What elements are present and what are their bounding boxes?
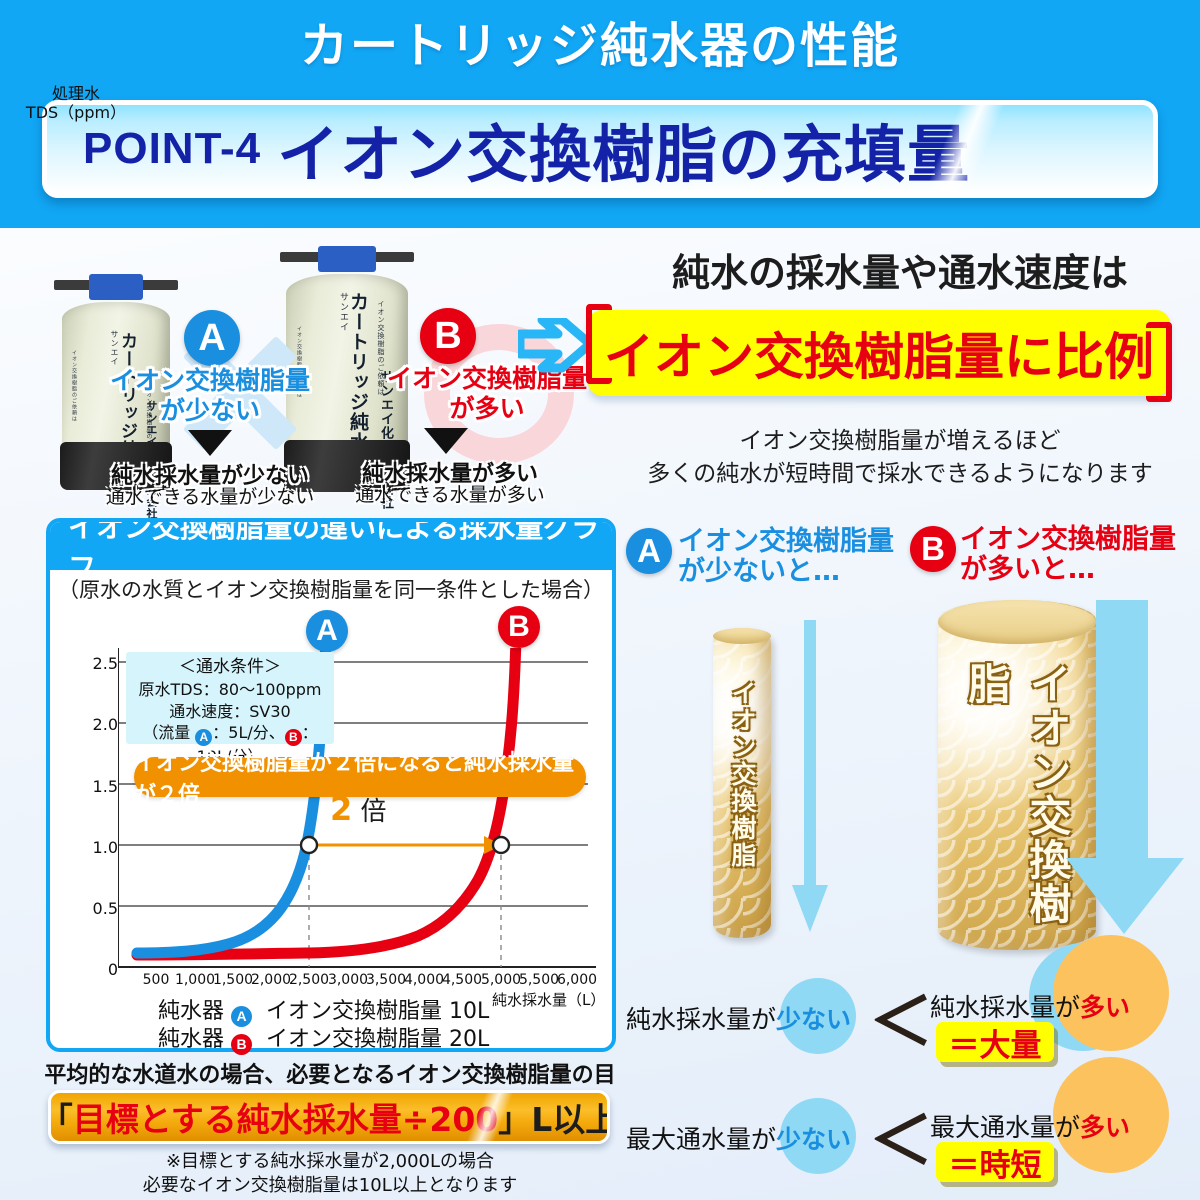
- caption-a-line2: が少ない: [100, 396, 320, 426]
- formula-note: ※目標とする純水採水量が2,000Lの場合 必要なイオン交換樹脂量は10L以上と…: [40, 1150, 620, 1199]
- badge-a: A: [184, 310, 240, 366]
- comparison-title-b-line1: イオン交換樹脂量: [960, 524, 1176, 555]
- comparison-row2-right-pre: 最大通水量が: [930, 1113, 1080, 1142]
- condition-line3-pre: （流量: [142, 723, 195, 742]
- comparison-row2-left-hl: 少ない: [776, 1125, 851, 1154]
- condition-line1: 原水TDS：80〜100ppm: [126, 679, 334, 701]
- resin-cylinder-a-top: [713, 628, 771, 644]
- legend-b-device: 純水器: [158, 1027, 224, 1052]
- comparison-badge-a: A: [626, 528, 672, 574]
- flow-arrow-b-icon: [1060, 600, 1190, 940]
- infographic-root: カートリッジ純水器の性能 POINT-4 イオン交換樹脂の充填量 カートリッジ純…: [0, 0, 1200, 1200]
- condition-title: ＜通水条件＞: [126, 656, 334, 679]
- resin-cylinder-a: イオン交換樹脂: [713, 628, 771, 938]
- chart-subheading: （原水の水質とイオン交換樹脂量を同一条件とした場合）: [50, 574, 612, 604]
- comparison-row1-operator: ＜: [869, 971, 933, 1063]
- result-b-sub: 通水できる水量が多い: [336, 480, 564, 507]
- legend-row-b: 純水器 B イオン交換樹脂量 20L: [158, 1021, 489, 1055]
- marker-b: [493, 837, 509, 853]
- comparison-row2-right-hl: 多い: [1080, 1113, 1130, 1142]
- comparison-title-a-line2: が少ないと…: [678, 556, 840, 587]
- bottle-a-label-brand: サンエイ: [109, 330, 120, 366]
- y-tick-2.5: 2.5: [78, 654, 118, 673]
- condition-line3-mid: ：5L/分、: [212, 723, 285, 742]
- right-arrow-icon: [518, 318, 594, 388]
- formula-note-line2: 必要なイオン交換樹脂量は10L以上となります: [143, 1175, 517, 1196]
- comparison-badge-b: B: [910, 526, 956, 572]
- multiplier-unit: 倍: [361, 797, 387, 827]
- formula-bar-shine: [429, 1090, 540, 1144]
- bottle-b-valve: [318, 246, 376, 272]
- x-tick-6000: 6,000: [554, 972, 600, 988]
- legend-b-text: イオン交換樹脂量 20L: [266, 1027, 489, 1052]
- comparison-title-a: イオン交換樹脂量 が少ないと…: [678, 527, 898, 587]
- proportion-lead: 純水の採水量や通水速度は: [600, 242, 1200, 297]
- multiplier-label: 2 倍: [330, 790, 387, 828]
- point-headline: イオン交換樹脂の充填量: [277, 104, 970, 194]
- condition-line2: 通水速度：SV30: [126, 701, 334, 723]
- flow-arrow-a-icon: [788, 620, 832, 940]
- point-banner: POINT-4 イオン交換樹脂の充填量: [42, 100, 1158, 198]
- bottle-a-label-fine: イオン交換樹脂のご依頼は: [71, 350, 78, 422]
- comparison-row1-left-hl: 少ない: [776, 1005, 851, 1034]
- bracket-left-icon: [586, 304, 612, 384]
- marker-a: [301, 837, 317, 853]
- formula-red: 目標とする純水採水量÷200: [73, 1100, 499, 1139]
- proportion-note-line1: イオン交換樹脂量が増えるほど: [739, 428, 1060, 454]
- chart-heading: イオン交換樹脂量の違いによる採水量グラフ: [50, 522, 612, 570]
- y-tick-0.5: 0.5: [78, 899, 118, 918]
- formula-note-line1: ※目標とする純水採水量が2,000Lの場合: [166, 1151, 494, 1172]
- page-title: カートリッジ純水器の性能: [0, 20, 1200, 73]
- result-a-sub: 通水できる水量が少ない: [90, 482, 330, 509]
- caption-a-line1: イオン交換樹脂量: [100, 366, 320, 396]
- legend-b-badge: B: [231, 1034, 252, 1055]
- y-tick-2.0: 2.0: [78, 715, 118, 734]
- comparison-title-b: イオン交換樹脂量 が多いと…: [960, 525, 1185, 585]
- comparison-row1-left-pre: 純水採水量が: [626, 1005, 776, 1034]
- multiplier-number: 2: [330, 790, 352, 828]
- proportion-note: イオン交換樹脂量が増えるほど 多くの純水が短時間で採水できるようになります: [600, 425, 1200, 492]
- bottle-a-valve: [89, 274, 143, 300]
- comparison-row2-operator: ＜: [869, 1090, 933, 1182]
- chart-x-axis-title: 純水採水量（L）: [492, 989, 605, 1010]
- y-tick-1.0: 1.0: [78, 838, 118, 857]
- formula-bar: 「目標とする純水採水量÷200」L以上: [48, 1090, 610, 1144]
- arrow-down-a-icon: [188, 430, 232, 456]
- comparison-row1-right-pre: 純水採水量が: [930, 993, 1080, 1022]
- comparison-title-a-line1: イオン交換樹脂量: [678, 526, 894, 557]
- chart-badge-b: B: [498, 606, 540, 648]
- condition-mini-badge-a: A: [195, 729, 212, 746]
- y-tick-1.5: 1.5: [78, 777, 118, 796]
- proportion-emphasis-box: イオン交換樹脂量に比例: [588, 310, 1170, 396]
- comparison-title-b-line2: が多いと…: [960, 554, 1095, 585]
- comparison-row1-right-hl: 多い: [1080, 993, 1130, 1022]
- badge-b: B: [420, 308, 476, 364]
- condition-mini-badge-b: B: [285, 729, 302, 746]
- caption-b-line2: が多い: [382, 394, 592, 424]
- formula-open-quote: 「: [48, 1100, 73, 1139]
- y-tick-0: 0: [78, 960, 118, 979]
- arrow-down-b-icon: [424, 428, 468, 454]
- resin-cylinder-a-label: イオン交換樹脂: [724, 680, 760, 869]
- proportion-note-line2: 多くの純水が短時間で採水できるようになります: [647, 461, 1153, 487]
- comparison-row2-tag: ＝時短: [936, 1142, 1054, 1182]
- chart-y-axis-title: 処理水TDS（ppm）: [20, 84, 132, 122]
- condition-box: ＜通水条件＞ 原水TDS：80〜100ppm 通水速度：SV30 （流量 A：5…: [126, 652, 334, 744]
- chart-badge-a: A: [306, 610, 348, 652]
- point-number-label: POINT-4: [83, 124, 261, 174]
- bottle-b-label-brand: サンエイ: [337, 292, 350, 332]
- comparison-row1-left: 純水採水量が少ない: [626, 1000, 851, 1036]
- proportion-emphasis-text: イオン交換樹脂量に比例: [604, 317, 1154, 389]
- bracket-right-icon: [1146, 322, 1172, 402]
- comparison-row2-left: 最大通水量が少ない: [626, 1120, 851, 1156]
- comparison-row1-tag: ＝大量: [936, 1022, 1054, 1062]
- comparison-row2-left-pre: 最大通水量が: [626, 1125, 776, 1154]
